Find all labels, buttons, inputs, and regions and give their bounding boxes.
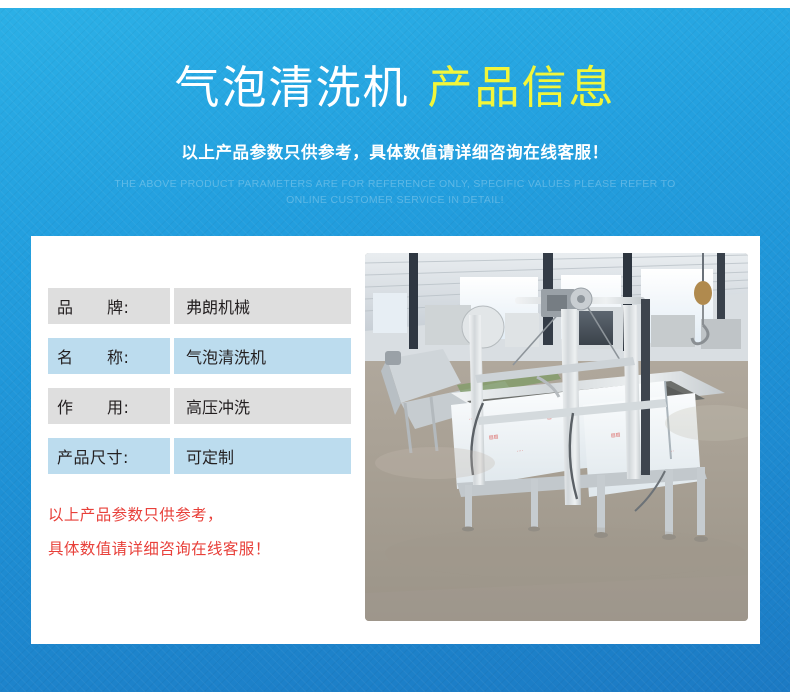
title-main-text: 气泡清洗机 (174, 61, 409, 114)
page-title: 气泡清洗机产品信息 (0, 63, 790, 113)
spec-value: 气泡清洗机 (174, 338, 351, 374)
svg-text:····: ···· (517, 448, 524, 455)
subtitle-english: THE ABOVE PRODUCT PARAMETERS ARE FOR REF… (0, 176, 790, 209)
page-root: 气泡清洗机产品信息 以上产品参数只供参考，具体数值请详细咨询在线客服！ THE … (0, 0, 790, 692)
svg-text:▨▨: ▨▨ (489, 434, 499, 441)
title-accent-text: 产品信息 (428, 61, 616, 114)
spec-label: 作 用: (48, 388, 170, 424)
top-white-strip (0, 0, 790, 8)
spec-table: 品 牌: 弗朗机械 名 称: 气泡清洗机 作 用: 高压冲洗 产品尺寸: 可定制 (48, 288, 358, 488)
subtitle-chinese: 以上产品参数只供参考，具体数值请详细咨询在线客服！ (0, 139, 790, 163)
spec-label: 品 牌: (48, 288, 170, 324)
table-row: 作 用: 高压冲洗 (48, 388, 358, 424)
disclaimer-note: 以上产品参数只供参考， 具体数值请详细咨询在线客服！ (48, 508, 368, 575)
table-row: 名 称: 气泡清洗机 (48, 338, 358, 374)
spec-value: 高压冲洗 (174, 388, 351, 424)
header: 气泡清洗机产品信息 以上产品参数只供参考，具体数值请详细咨询在线客服！ THE … (0, 8, 790, 208)
content-card: 品 牌: 弗朗机械 名 称: 气泡清洗机 作 用: 高压冲洗 产品尺寸: 可定制… (31, 236, 760, 644)
spec-value: 弗朗机械 (174, 288, 351, 324)
svg-text:▨▨: ▨▨ (611, 432, 621, 439)
product-photo-illustration: ····· ▨▨ ···· ▨ ··· ▨▨ ···· ▨ ·· (365, 253, 748, 621)
subtitle-english-line-1: THE ABOVE PRODUCT PARAMETERS ARE FOR REF… (0, 176, 790, 192)
spec-label: 产品尺寸: (48, 438, 170, 474)
table-row: 品 牌: 弗朗机械 (48, 288, 358, 324)
spec-label: 名 称: (48, 338, 170, 374)
subtitle-english-line-2: ONLINE CUSTOMER SERVICE IN DETAIL! (0, 192, 790, 208)
product-photo: ····· ▨▨ ···· ▨ ··· ▨▨ ···· ▨ ·· (365, 253, 748, 621)
spec-value: 可定制 (174, 438, 351, 474)
table-row: 产品尺寸: 可定制 (48, 438, 358, 474)
disclaimer-line-2: 具体数值请详细咨询在线客服！ (48, 542, 368, 558)
disclaimer-line-1: 以上产品参数只供参考， (48, 508, 368, 524)
